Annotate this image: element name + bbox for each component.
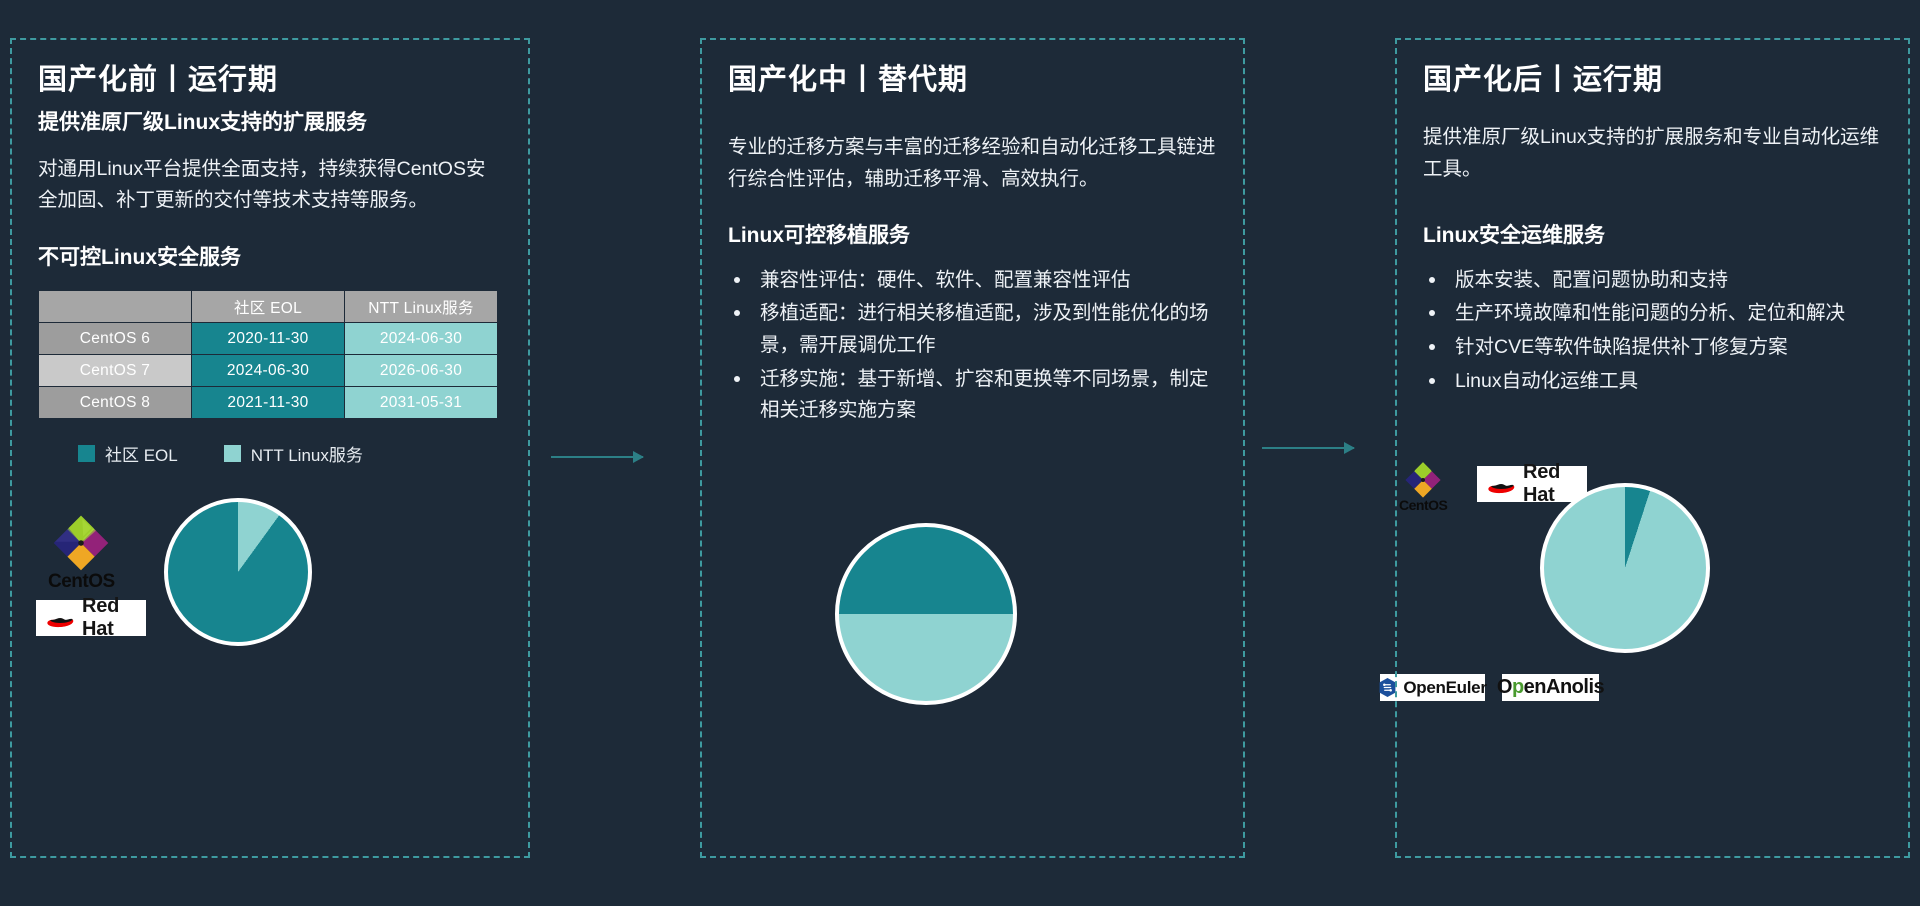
panel-3-body: 提供准原厂级Linux支持的扩展服务和专业自动化运维工具。 <box>1423 122 1882 185</box>
panel-3-bullet-list: 版本安装、配置问题协助和支持 生产环境故障和性能问题的分析、定位和解决 针对CV… <box>1423 265 1882 397</box>
pie-chart-after <box>1540 483 1710 653</box>
centos-eol-table: 社区 EOL NTT Linux服务 CentOS 6 2020-11-30 2… <box>38 290 498 419</box>
legend-item-ntt: NTT Linux服务 <box>224 441 363 466</box>
panel-1-body: 对通用Linux平台提供全面支持，持续获得CentOS安全加固、补丁更新的交付等… <box>38 154 502 217</box>
table-header-cell-ntt: NTT Linux服务 <box>345 291 498 323</box>
list-item: 版本安装、配置问题协助和支持 <box>1423 265 1882 297</box>
list-item: Linux自动化运维工具 <box>1423 366 1882 398</box>
table-row: CentOS 7 2024-06-30 2026-06-30 <box>39 355 498 387</box>
list-item: 生产环境故障和性能问题的分析、定位和解决 <box>1423 298 1882 330</box>
arrow-right-icon-1 <box>551 456 643 458</box>
table-header-row: 社区 EOL NTT Linux服务 <box>39 291 498 323</box>
table-cell-os: CentOS 8 <box>39 387 192 419</box>
redhat-hat-icon <box>46 608 75 628</box>
table-cell-os: CentOS 7 <box>39 355 192 387</box>
legend-label: 社区 EOL <box>105 441 178 466</box>
table-header-cell-blank <box>39 291 192 323</box>
table-cell-eol: 2020-11-30 <box>192 323 345 355</box>
panel-2-content: 国产化中丨替代期 专业的迁移方案与丰富的迁移经验和自动化迁移工具链进行综合性评估… <box>702 40 1243 856</box>
centos-logo: CentOS <box>48 512 115 593</box>
panel-before-localization: 国产化前丨运行期 提供准原厂级Linux支持的扩展服务 对通用Linux平台提供… <box>10 38 530 858</box>
panel-after-localization: 国产化后丨运行期 提供准原厂级Linux支持的扩展服务和专业自动化运维工具。 L… <box>1395 38 1910 858</box>
legend-swatch-icon <box>78 445 95 462</box>
panel-during-localization: 国产化中丨替代期 专业的迁移方案与丰富的迁移经验和自动化迁移工具链进行综合性评估… <box>700 38 1245 858</box>
panel-1-section-title: 不可控Linux安全服务 <box>38 243 502 272</box>
table-cell-ntt: 2031-05-31 <box>345 387 498 419</box>
table-cell-eol: 2024-06-30 <box>192 355 345 387</box>
slide-board: 国产化前丨运行期 提供准原厂级Linux支持的扩展服务 对通用Linux平台提供… <box>0 0 1920 906</box>
panel-1-subtitle: 提供准原厂级Linux支持的扩展服务 <box>38 108 502 137</box>
panel-3-section-title: Linux安全运维服务 <box>1423 221 1882 250</box>
panel-2-body: 专业的迁移方案与丰富的迁移经验和自动化迁移工具链进行综合性评估，辅助迁移平滑、高… <box>728 132 1217 195</box>
list-item: 兼容性评估：硬件、软件、配置兼容性评估 <box>728 265 1217 297</box>
centos-logo-label: CentOS <box>48 571 115 593</box>
table-cell-eol: 2021-11-30 <box>192 387 345 419</box>
list-item: 针对CVE等软件缺陷提供补丁修复方案 <box>1423 332 1882 364</box>
list-item: 移植适配：进行相关移植适配，涉及到性能优化的场景，需开展调优工作 <box>728 298 1217 361</box>
table-cell-os: CentOS 6 <box>39 323 192 355</box>
pie-legend: 社区 EOL NTT Linux服务 <box>78 441 502 466</box>
legend-label: NTT Linux服务 <box>251 441 363 466</box>
panel-1-content: 国产化前丨运行期 提供准原厂级Linux支持的扩展服务 对通用Linux平台提供… <box>12 40 528 856</box>
legend-swatch-icon <box>224 445 241 462</box>
table-cell-ntt: 2026-06-30 <box>345 355 498 387</box>
table-row: CentOS 6 2020-11-30 2024-06-30 <box>39 323 498 355</box>
redhat-logo: Red Hat <box>36 600 146 636</box>
panel-1-title: 国产化前丨运行期 <box>38 62 502 98</box>
panel-3-content: 国产化后丨运行期 提供准原厂级Linux支持的扩展服务和专业自动化运维工具。 L… <box>1397 40 1908 856</box>
arrow-right-icon-2 <box>1262 447 1354 449</box>
panel-2-section-title: Linux可控移植服务 <box>728 221 1217 250</box>
panel-2-bullet-list: 兼容性评估：硬件、软件、配置兼容性评估 移植适配：进行相关移植适配，涉及到性能优… <box>728 265 1217 427</box>
panel-3-title: 国产化后丨运行期 <box>1423 62 1882 98</box>
redhat-logo-label: Red Hat <box>82 595 136 641</box>
pie-chart-before <box>164 498 312 646</box>
table-cell-ntt: 2024-06-30 <box>345 323 498 355</box>
panel-2-title: 国产化中丨替代期 <box>728 62 1217 98</box>
centos-mark-icon <box>50 512 112 574</box>
pie-chart-during <box>835 523 1017 705</box>
table-header-cell-eol: 社区 EOL <box>192 291 345 323</box>
table-row: CentOS 8 2021-11-30 2031-05-31 <box>39 387 498 419</box>
legend-item-eol: 社区 EOL <box>78 441 178 466</box>
list-item: 迁移实施：基于新增、扩容和更换等不同场景，制定相关迁移实施方案 <box>728 364 1217 427</box>
